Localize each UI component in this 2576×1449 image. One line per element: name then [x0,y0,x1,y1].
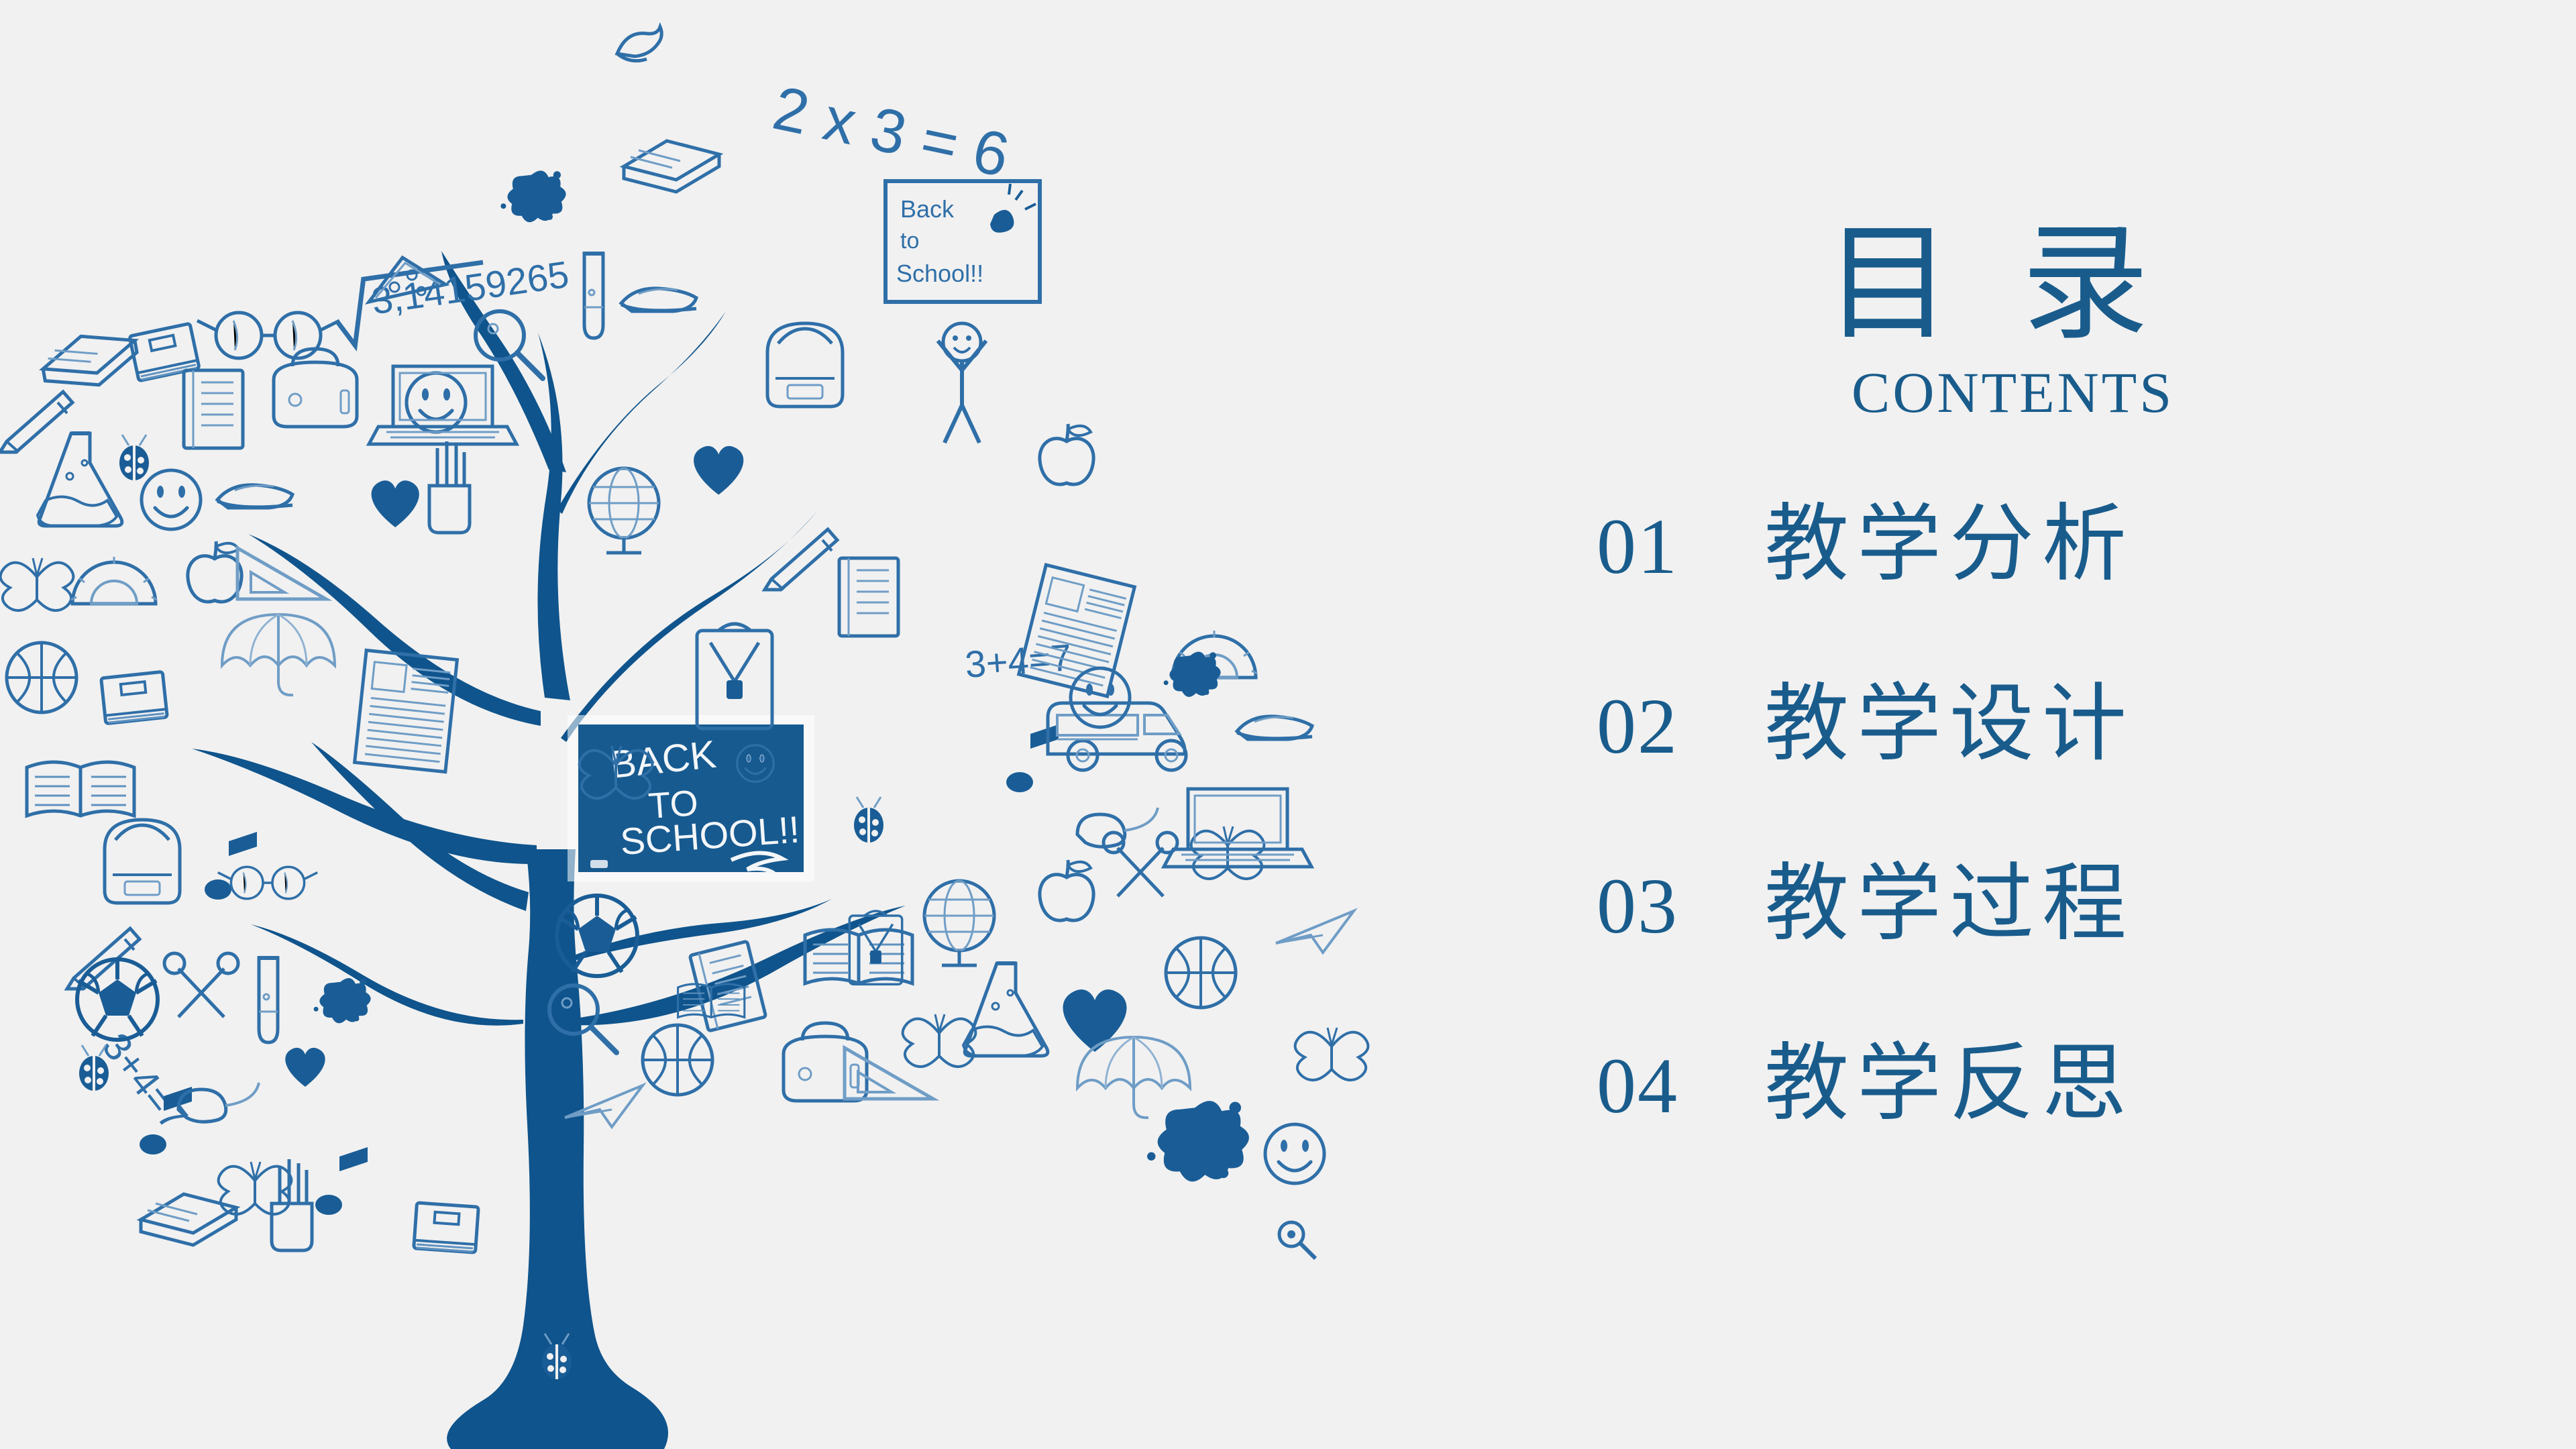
tree-doodle-svg: BACK TO SCHOOL!! Back to School!! 2 x 3 … [0,0,1409,1449]
flask-icon-2 [963,963,1048,1056]
pencup-icon-1 [429,441,470,533]
pencil-icon-3 [765,529,837,590]
butterfly-icon-6 [1295,1028,1368,1080]
toc-item-01[interactable]: 01 教学分析 [1597,503,2402,683]
stapler-icon-3 [1237,716,1312,739]
scissors-icon-1 [164,953,238,1017]
pencil-icon-2 [67,928,140,989]
bird-icon [617,27,661,61]
toc-number-03: 03 [1597,867,1764,946]
sqrt-expression: 3,14159265 [331,251,574,347]
butterfly-icon-1 [1,558,74,610]
math-right-text: 3+4=7 [963,636,1073,686]
soccer-icon-1 [77,959,158,1040]
toc-label-01: 教学分析 [1764,503,2135,588]
globe-icon-1 [589,468,659,553]
heart-icon-1 [372,480,419,527]
sign-line3: School!! [896,260,983,287]
basketball-icon-3 [643,1025,712,1095]
clipboard-icon-1 [697,624,772,729]
splat-icon-3 [1147,1101,1249,1181]
sandwich-icon-2 [39,327,142,394]
heart-icon-2 [285,1048,325,1087]
toc-item-02[interactable]: 02 教学设计 [1597,683,2402,863]
butterfly-icon-4 [1191,826,1265,879]
smiley-icon-2 [407,373,466,432]
flask-icon-1 [38,433,122,526]
toc-label-04: 教学反思 [1764,1042,2135,1127]
book-icon-1 [129,323,199,381]
notebook-icon-1 [184,370,243,448]
stapler-icon-1 [621,288,696,311]
student-with-sign: Back to School!! [885,181,1040,443]
toc-number-02: 02 [1597,687,1764,766]
ladybug-icon-1 [119,435,149,480]
backpack-icon-2 [105,820,180,903]
triangle-ruler-icon-2 [845,1048,933,1099]
paperplane-icon-2 [1276,911,1354,953]
toc-label-02: 教学设计 [1764,683,2135,767]
laptop-icon-2 [1164,789,1311,867]
musicnote-icon-4 [1006,724,1059,792]
musicnote-icon-1 [205,832,257,900]
page-title-english: CONTENTS [1851,364,2174,421]
umbrella-icon-1 [222,614,335,695]
page-title-chinese: 目 录 [1825,221,2168,349]
slide-root: BACK TO SCHOOL!! Back to School!! 2 x 3 … [0,0,2576,1449]
splat-icon [500,170,566,222]
toc-number-01: 01 [1597,507,1764,586]
apple-icon-3 [1040,860,1093,920]
stapler-icon-2 [217,485,292,508]
toc-item-03[interactable]: 03 教学过程 [1597,863,2402,1042]
backpack-icon [767,323,843,407]
sign-line2: to [900,228,919,254]
toc-item-04[interactable]: 04 教学反思 [1597,1042,2402,1222]
math-annotations: 2 x 3 = 6 3,14159265 3+4=7 3+4=7 [94,74,1073,1139]
sign-line1: Back [900,195,955,223]
thumbtack-icon-1 [1279,1222,1316,1258]
notebook-icon-2 [839,558,898,636]
contents-panel: 目 录 CONTENTS 01 教学分析 02 教学设计 03 教学过程 04 … [1476,188,2576,1328]
heart-icon-3 [694,446,743,495]
splat-icon-4 [1164,652,1221,697]
apple-icon-2 [188,541,241,602]
smiley-icon-3 [142,470,201,529]
book-icon-2 [101,672,168,723]
toaster-icon-2 [784,1023,867,1101]
toc-label-03: 教学过程 [1764,863,2135,947]
pencil-icon-1 [0,392,72,452]
splat-icon-2 [314,978,371,1023]
sandwich-icon [624,141,719,192]
chalkboard: BACK TO SCHOOL!! [568,715,814,881]
glasses-icon [197,313,339,358]
math-top-text: 2 x 3 = 6 [767,74,1015,191]
testtube-icon [583,254,604,338]
newspaper-icon-1 [355,650,458,771]
protractor-icon-1 [71,557,157,604]
heart-icon-4 [1063,989,1127,1052]
doodle-icons [0,27,1368,1379]
back-to-school-tree-illustration: BACK TO SCHOOL!! Back to School!! 2 x 3 … [0,0,1409,1449]
testtube-icon-2 [258,958,279,1042]
smiley-icon-4 [1265,1124,1324,1183]
math-lower-left-text: 3+4=7 [94,1025,197,1139]
toc-number-04: 04 [1597,1046,1764,1126]
toaster-icon-1 [274,349,357,427]
mouse-icon-2 [1077,808,1158,847]
apple-icon-1 [1040,424,1093,484]
ladybug-icon-4 [854,797,883,843]
glasses-icon-2 [218,867,317,899]
musicnote-icon-3 [315,1147,368,1215]
pencup-icon-2 [272,1159,312,1250]
globe-icon-2 [924,881,994,965]
bus-icon [1048,703,1186,770]
table-of-contents-list: 01 教学分析 02 教学设计 03 教学过程 04 教学反思 [1597,503,2402,1222]
openbook-icon-1 [27,762,134,816]
basketball-icon-2 [1166,938,1236,1008]
book-icon-3 [414,1203,479,1252]
basketball-icon-1 [7,643,76,712]
umbrella-icon-2 [1077,1037,1190,1118]
laptop-icon-1 [369,366,517,444]
